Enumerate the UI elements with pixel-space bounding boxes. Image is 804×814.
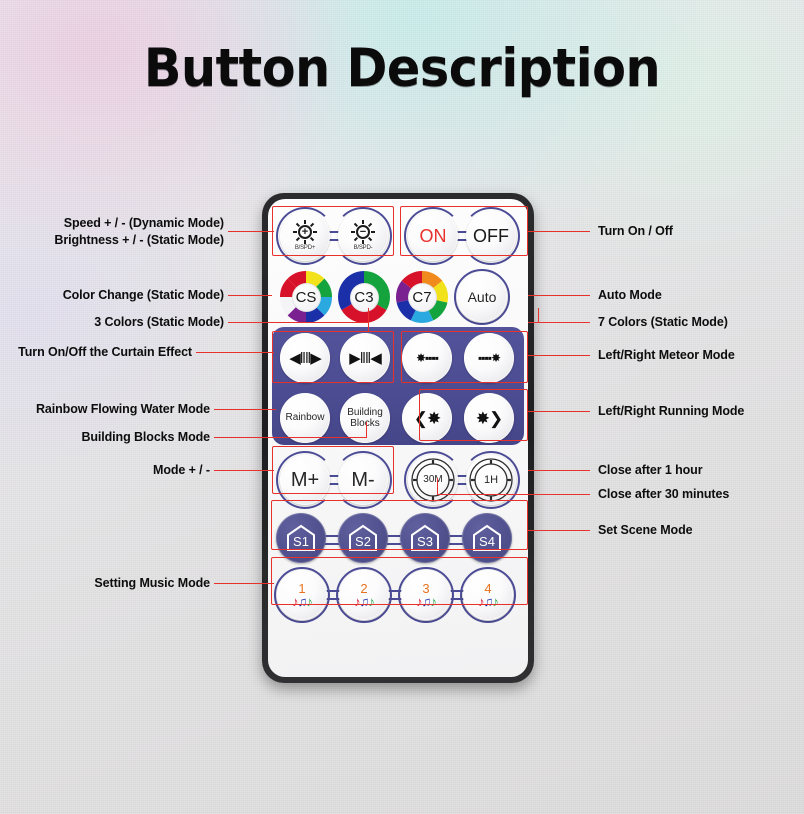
leader-speed-brightness: [228, 231, 274, 232]
meteor-right-icon: ▪▪▪▪✸: [478, 352, 500, 364]
key-scene-s2[interactable]: S2: [338, 513, 388, 563]
row-mode-and-timer: M+ M- 30M: [268, 451, 528, 509]
key-c3[interactable]: C3: [338, 271, 390, 323]
leader-seven-colors: [528, 322, 590, 323]
leader-meteor: [528, 355, 590, 356]
callout-speed-brightness: Speed + / - (Dynamic Mode) Brightness + …: [0, 215, 224, 249]
key-label-auto: Auto: [468, 290, 497, 304]
key-auto[interactable]: Auto: [457, 272, 507, 322]
running-left-icon: ❮✸: [414, 410, 441, 427]
leader-building-blocks: [214, 437, 366, 438]
key-label-off: OFF: [473, 227, 509, 245]
curtain-inward-arrows-icon: ▶‖‖◀: [349, 351, 380, 366]
leader-setting-music: [214, 583, 274, 584]
leader-curtain: [196, 352, 274, 353]
running-right-icon: ✸❯: [476, 410, 503, 427]
key-music-2[interactable]: 2 ♪♫♪: [339, 570, 389, 620]
row-rainbow-blocks-running: Rainbow Building Blocks ❮✸ ✸❯: [268, 389, 528, 447]
key-scene-s4[interactable]: S4: [462, 513, 512, 563]
callout-setting-music: Setting Music Mode: [0, 575, 210, 592]
key-meteor-left[interactable]: ✸▪▪▪▪: [402, 333, 452, 383]
key-label-building-blocks: Building Blocks: [343, 407, 387, 429]
callout-close-30-minutes: Close after 30 minutes: [598, 486, 729, 503]
music-notes-icon: ♪♫♪: [478, 595, 498, 608]
leader-color-change: [228, 295, 272, 296]
key-label-scene-s2: S2: [355, 534, 371, 549]
key-label-mode-plus: M+: [291, 470, 319, 490]
key-label-timer-30m: 30M: [423, 475, 442, 485]
key-music-3[interactable]: 3 ♪♫♪: [401, 570, 451, 620]
page-title: Button Description: [28, 38, 776, 99]
callout-mode-plus-minus: Mode + / -: [0, 462, 210, 479]
callout-rainbow-flowing: Rainbow Flowing Water Mode: [0, 401, 210, 418]
key-music-1[interactable]: 1 ♪♫♪: [277, 570, 327, 620]
key-label-rainbow: Rainbow: [286, 413, 325, 423]
key-timer-1h[interactable]: 1H: [466, 455, 516, 505]
leader-rainbow: [214, 409, 276, 410]
key-power-off[interactable]: OFF: [466, 211, 516, 261]
leader-auto-mode: [528, 295, 590, 296]
connector-m1-m2: [326, 590, 340, 600]
key-meteor-right[interactable]: ▪▪▪▪✸: [464, 333, 514, 383]
callout-speed-brightness-line2: Brightness + / - (Static Mode): [0, 232, 224, 249]
key-label-timer-1h: 1H: [484, 475, 498, 486]
key-mode-plus[interactable]: M+: [280, 455, 330, 505]
key-c7[interactable]: C7: [396, 271, 448, 323]
sun-plus-icon: +: [294, 221, 316, 243]
connector-m3-m4: [450, 590, 464, 600]
key-cs[interactable]: CS: [280, 271, 332, 323]
callout-speed-brightness-line1: Speed + / - (Dynamic Mode): [0, 215, 224, 232]
leader-seven-colors-v: [538, 308, 539, 322]
music-notes-icon: ♪♫♪: [416, 595, 436, 608]
row-scene-modes: S1 S2 S3 S4: [268, 511, 528, 569]
row-music-modes: 1 ♪♫♪ 2 ♪♫♪ 3 ♪♫♪ 4 ♪♫♪: [268, 567, 528, 625]
key-label-c3: C3: [350, 283, 379, 312]
leader-mode: [214, 470, 274, 471]
key-label-scene-s1: S1: [293, 534, 309, 549]
sun-minus-icon: −: [352, 221, 374, 243]
leader-turn-on-off: [528, 231, 590, 232]
callout-close-1-hour: Close after 1 hour: [598, 462, 702, 479]
callout-meteor-mode: Left/Right Meteor Mode: [598, 347, 735, 364]
row-color-modes: CS C3: [268, 269, 528, 327]
leader-set-scene: [528, 530, 590, 531]
music-notes-icon: ♪♫♪: [292, 595, 312, 608]
leader-three-colors-h2: [228, 322, 368, 323]
key-label-c7: C7: [408, 283, 437, 312]
leader-three-colors-v: [368, 308, 369, 331]
remote-face: + B/SPD+ − B/SPD-: [268, 199, 528, 677]
callout-curtain-effect: Turn On/Off the Curtain Effect: [0, 344, 192, 361]
callout-set-scene: Set Scene Mode: [598, 522, 692, 539]
key-scene-s3[interactable]: S3: [400, 513, 450, 563]
leader-close-30m-h: [437, 494, 590, 495]
leader-building-blocks-v: [366, 422, 367, 438]
key-scene-s1[interactable]: S1: [276, 513, 326, 563]
key-label-mode-minus: M-: [351, 470, 374, 490]
callout-three-colors: 3 Colors (Static Mode): [0, 314, 224, 331]
key-curtain-open[interactable]: ◀‖‖▶: [280, 333, 330, 383]
key-label-scene-s4: S4: [479, 534, 495, 549]
key-bspd-plus[interactable]: + B/SPD+: [280, 211, 330, 261]
callout-seven-colors: 7 Colors (Static Mode): [598, 314, 728, 331]
callout-turn-on-off: Turn On / Off: [598, 223, 673, 240]
key-sublabel-bspd-minus: B/SPD-: [354, 245, 373, 251]
key-music-4[interactable]: 4 ♪♫♪: [463, 570, 513, 620]
key-curtain-close[interactable]: ▶‖‖◀: [340, 333, 390, 383]
row-curtain-and-meteor: ◀‖‖▶ ▶‖‖◀ ✸▪▪▪▪ ▪▪▪▪✸: [268, 329, 528, 387]
key-timer-30m[interactable]: 30M: [408, 455, 458, 505]
callout-auto-mode: Auto Mode: [598, 287, 662, 304]
key-building-blocks[interactable]: Building Blocks: [340, 393, 390, 443]
connector-m2-m3: [388, 590, 402, 600]
callout-running-mode: Left/Right Running Mode: [598, 403, 744, 420]
key-sublabel-bspd-plus: B/SPD+: [295, 245, 315, 251]
row-power-and-speed: + B/SPD+ − B/SPD-: [268, 207, 528, 265]
callout-color-change: Color Change (Static Mode): [0, 287, 224, 304]
leader-running: [528, 411, 590, 412]
key-label-cs: CS: [292, 283, 321, 312]
key-rainbow[interactable]: Rainbow: [280, 393, 330, 443]
key-mode-minus[interactable]: M-: [338, 455, 388, 505]
leader-close-30m-v: [437, 478, 438, 494]
key-bspd-minus[interactable]: − B/SPD-: [338, 211, 388, 261]
remote-control: + B/SPD+ − B/SPD-: [262, 193, 534, 683]
key-running-left[interactable]: ❮✸: [402, 393, 452, 443]
callout-building-blocks: Building Blocks Mode: [0, 429, 210, 446]
key-running-right[interactable]: ✸❯: [464, 393, 514, 443]
music-notes-icon: ♪♫♪: [354, 595, 374, 608]
key-label-scene-s3: S3: [417, 534, 433, 549]
meteor-left-icon: ✸▪▪▪▪: [416, 352, 438, 364]
key-label-on: ON: [420, 227, 447, 245]
curtain-outward-arrows-icon: ◀‖‖▶: [289, 351, 320, 366]
key-power-on[interactable]: ON: [408, 211, 458, 261]
leader-close-1h: [528, 470, 590, 471]
